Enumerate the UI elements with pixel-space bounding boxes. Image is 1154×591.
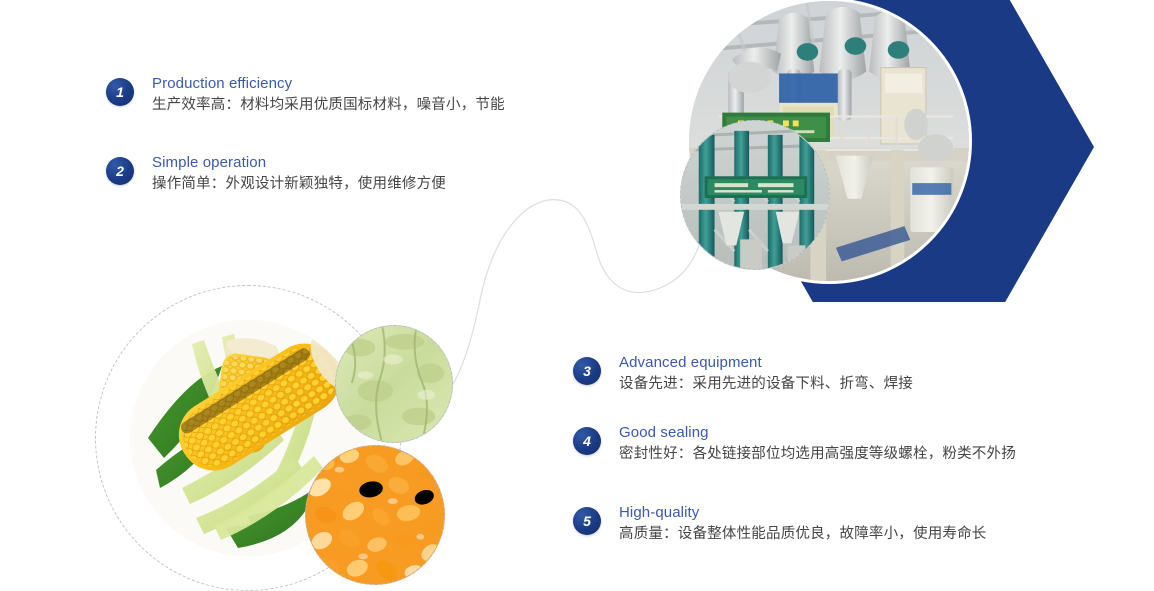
feature-badge-2: 2 (106, 157, 134, 185)
corn-grits-photo (305, 445, 445, 585)
feature-text-1: Production efficiency 生产效率高：材料均采用优质国标材料，… (152, 74, 505, 116)
feature-text-4: Good sealing 密封性好：各处链接部位均选用高强度等级螺栓，粉类不外扬 (619, 423, 1016, 465)
feature-title-cn-3: 设备先进：采用先进的设备下料、折弯、焊接 (619, 373, 913, 395)
feature-item-2[interactable]: 2 Simple operation 操作简单：外观设计新颖独特，使用维修方便 (106, 157, 446, 195)
small-mill-photo-art (681, 121, 829, 269)
feature-item-4[interactable]: 4 Good sealing 密封性好：各处链接部位均选用高强度等级螺栓，粉类不… (573, 427, 1016, 465)
feature-text-3: Advanced equipment 设备先进：采用先进的设备下料、折弯、焊接 (619, 353, 913, 395)
green-mill-machinery-photo (680, 120, 830, 270)
feature-title-cn-4: 密封性好：各处链接部位均选用高强度等级螺栓，粉类不外扬 (619, 443, 1016, 465)
green-paste-art (336, 326, 452, 442)
feature-title-en-4: Good sealing (619, 423, 1016, 443)
feature-item-5[interactable]: 5 High-quality 高质量：设备整体性能品质优良，故障率小，使用寿命长 (573, 507, 987, 545)
feature-title-cn-5: 高质量：设备整体性能品质优良，故障率小，使用寿命长 (619, 523, 987, 545)
feature-badge-1: 1 (106, 78, 134, 106)
feature-text-5: High-quality 高质量：设备整体性能品质优良，故障率小，使用寿命长 (619, 503, 987, 545)
feature-title-en-2: Simple operation (152, 153, 446, 173)
feature-badge-5: 5 (573, 507, 601, 535)
corn-flour-green-photo (335, 325, 453, 443)
infographic-canvas: 1 Production efficiency 生产效率高：材料均采用优质国标材… (0, 0, 1154, 591)
feature-text-2: Simple operation 操作简单：外观设计新颖独特，使用维修方便 (152, 153, 446, 195)
feature-title-cn-1: 生产效率高：材料均采用优质国标材料，噪音小，节能 (152, 94, 505, 116)
feature-badge-3: 3 (573, 357, 601, 385)
feature-badge-4: 4 (573, 427, 601, 455)
feature-item-1[interactable]: 1 Production efficiency 生产效率高：材料均采用优质国标材… (106, 78, 505, 116)
feature-title-en-3: Advanced equipment (619, 353, 913, 373)
feature-item-3[interactable]: 3 Advanced equipment 设备先进：采用先进的设备下料、折弯、焊… (573, 357, 913, 395)
feature-title-en-5: High-quality (619, 503, 987, 523)
feature-title-cn-2: 操作简单：外观设计新颖独特，使用维修方便 (152, 173, 446, 195)
feature-title-en-1: Production efficiency (152, 74, 505, 94)
grits-art (306, 446, 444, 584)
